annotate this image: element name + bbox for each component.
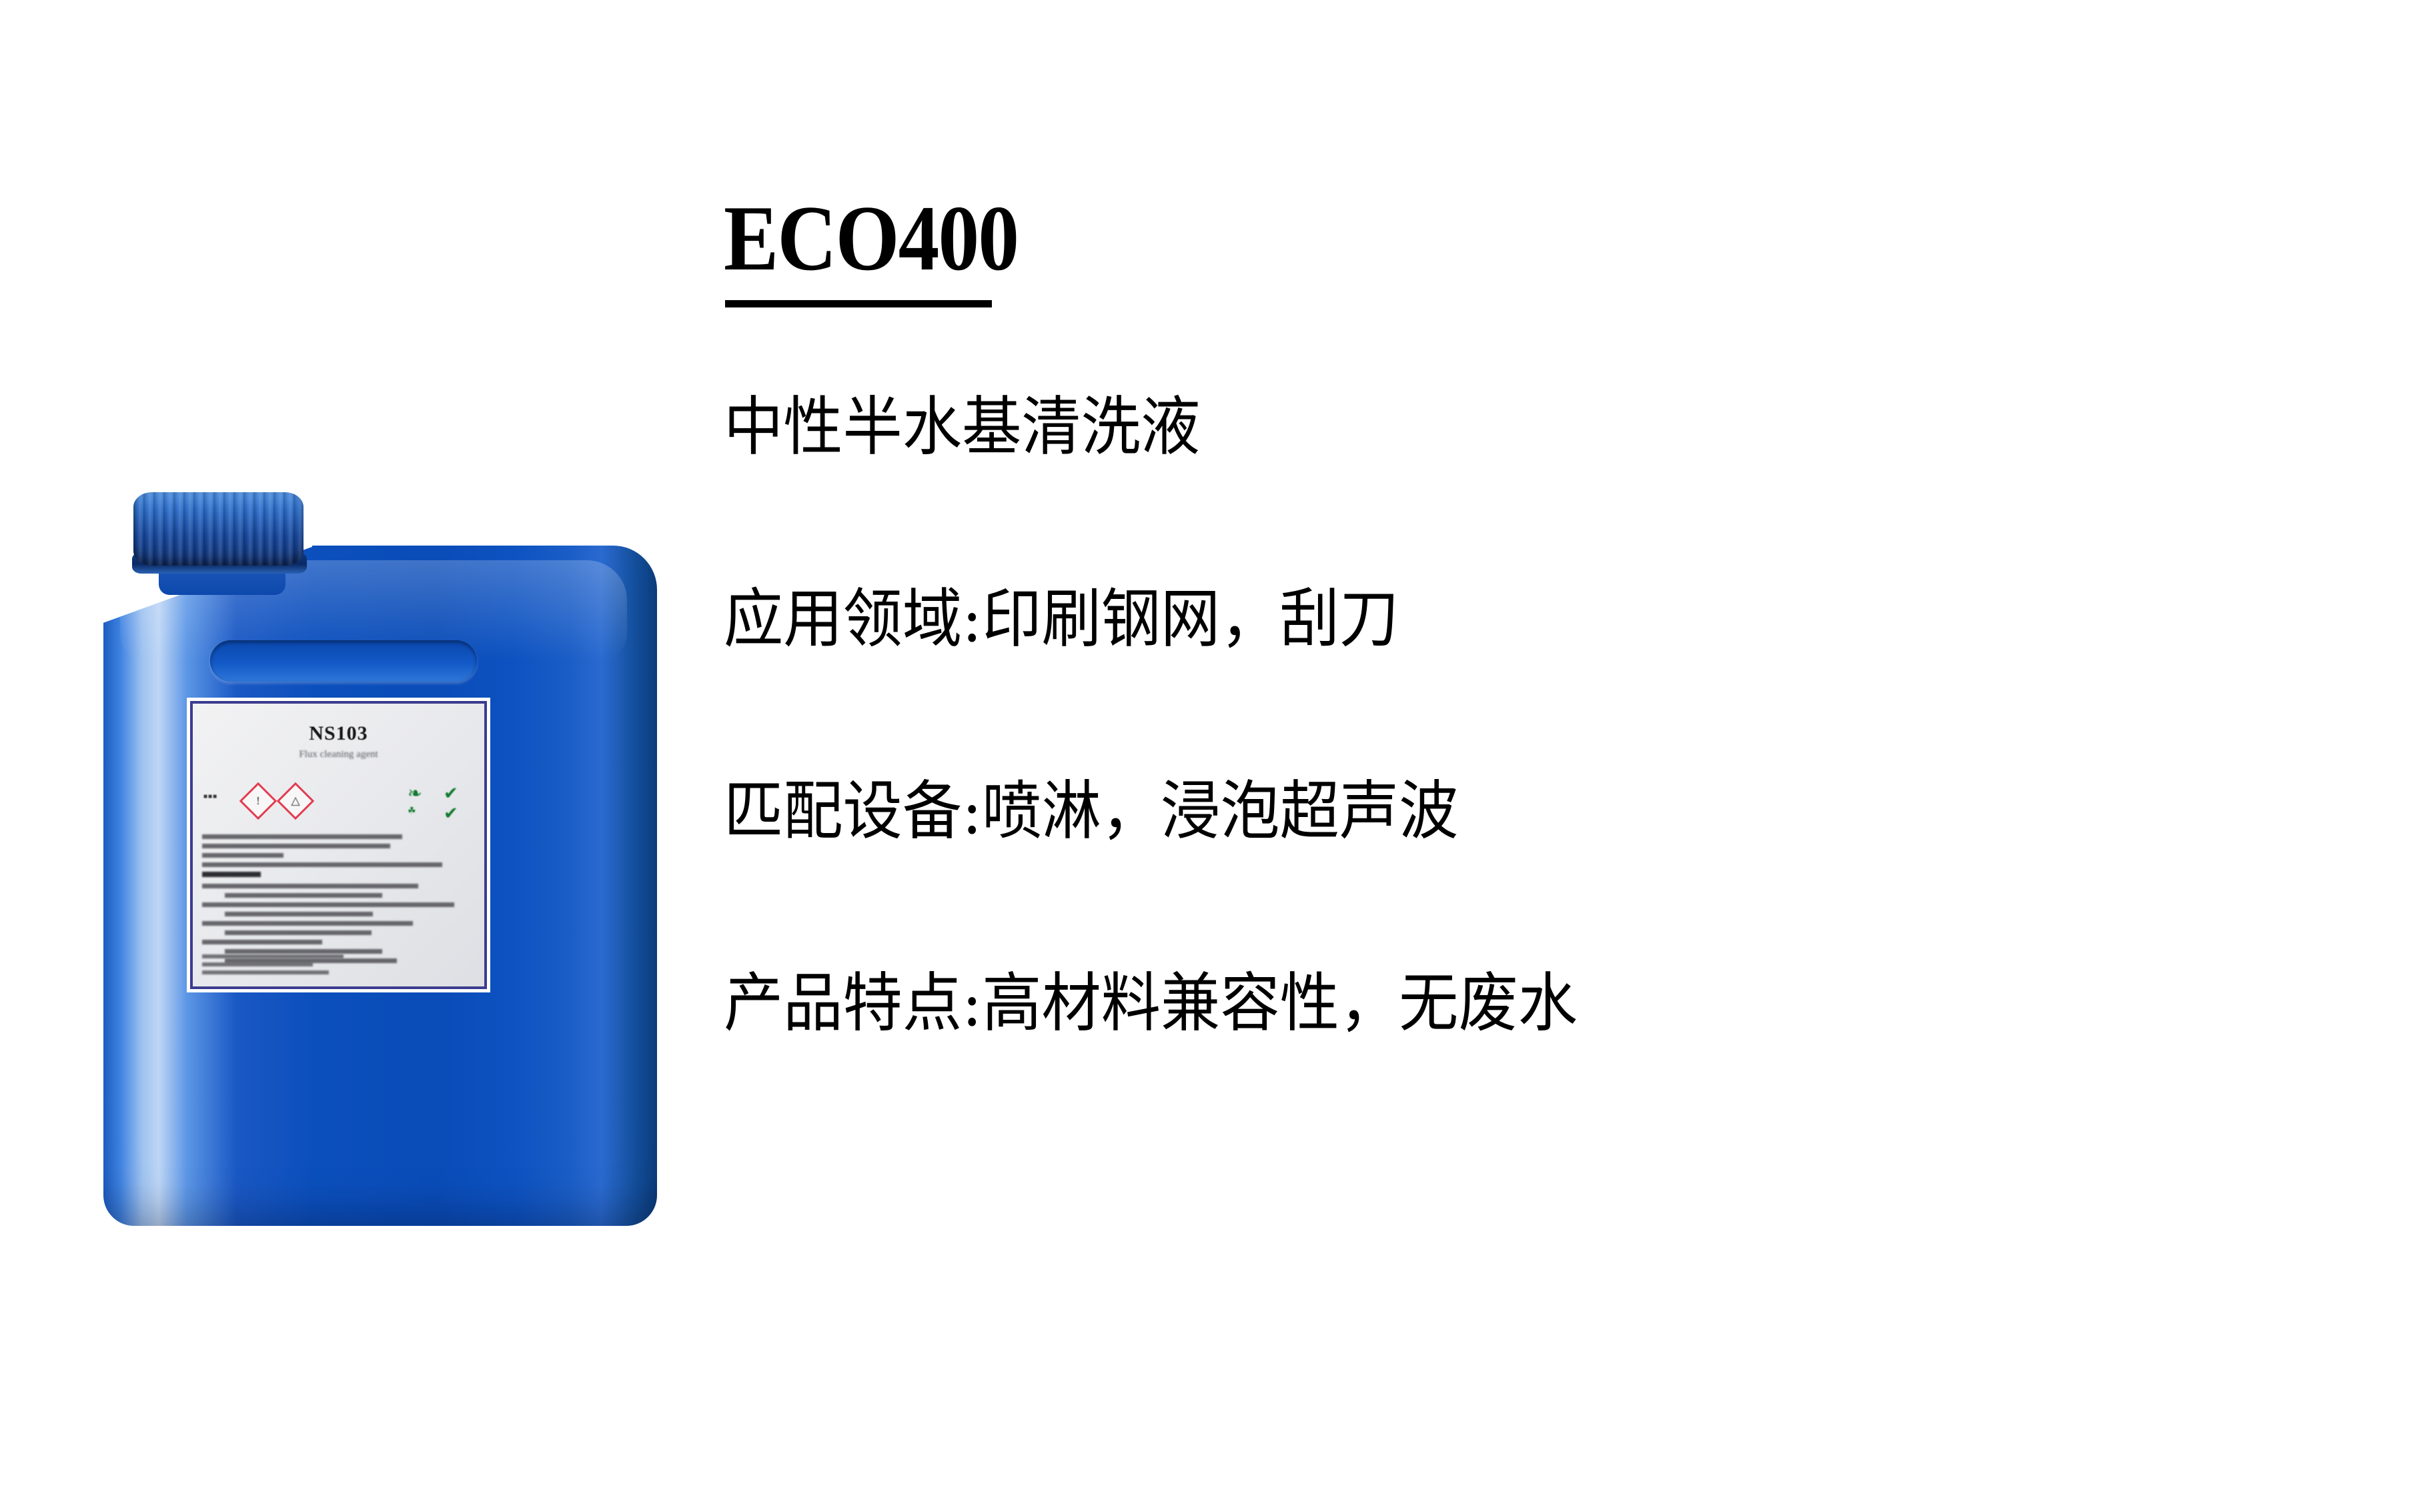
label-body-text-block	[202, 834, 469, 968]
spec-line-application: 应用领域:印刷钢网，刮刀	[724, 587, 1399, 651]
product-photo: NS103 Flux cleaning agent ■■■ ! △ ❧ ✔ ☘ …	[80, 460, 694, 1254]
label-text-line	[225, 893, 382, 898]
label-text-line	[225, 949, 382, 954]
spec-line-product-type: 中性半水基清洗液	[724, 395, 1200, 459]
product-label: NS103 Flux cleaning agent ■■■ ! △ ❧ ✔ ☘ …	[187, 698, 490, 992]
check-leaf-icon: ✔	[444, 784, 458, 804]
ghs-health-hazard-glyph: △	[291, 794, 299, 808]
label-text-line	[225, 930, 372, 935]
label-footer-line	[202, 962, 313, 966]
label-product-subtitle: Flux cleaning agent	[199, 749, 478, 760]
label-text-line	[202, 853, 283, 858]
jerrycan-screw-cap	[133, 492, 304, 566]
label-hazard-heading: ■■■	[203, 793, 217, 800]
ghs-exclamation-glyph: !	[256, 794, 260, 808]
title-underline-rule	[725, 300, 992, 307]
label-text-line	[202, 862, 442, 867]
label-text-line	[202, 940, 322, 944]
label-text-line	[202, 921, 413, 926]
product-info-panel: ECO400 中性半水基清洗液 应用领域:印刷钢网，刮刀 匹配设备:喷淋，浸泡超…	[724, 0, 2378, 1512]
spec-line-equipment: 匹配设备:喷淋，浸泡超声波	[724, 779, 1458, 843]
spec-line-features: 产品特点:高材料兼容性，无废水	[724, 971, 1578, 1035]
leaf-icon: ❧	[408, 784, 422, 804]
label-footer-line	[202, 970, 329, 974]
page-title: ECO400	[724, 192, 1018, 285]
label-text-line	[225, 912, 373, 916]
label-eco-icon-group: ❧ ✔ ☘ ✔	[406, 784, 481, 830]
label-text-line	[202, 884, 418, 888]
ghs-health-hazard-icon: △	[277, 782, 315, 820]
jerrycan-grip-indent	[210, 640, 477, 682]
label-text-line	[202, 844, 390, 848]
product-label-inner: NS103 Flux cleaning agent ■■■ ! △ ❧ ✔ ☘ …	[190, 701, 487, 989]
ghs-exclamation-mark-icon: !	[239, 782, 277, 820]
green-check-icon: ✔	[444, 804, 458, 824]
label-pictogram-row: ■■■ ! △ ❧ ✔ ☘ ✔	[203, 782, 484, 830]
eco-label-icon: ☘	[408, 806, 416, 817]
label-footer-block	[202, 954, 472, 978]
label-text-line	[202, 902, 454, 907]
label-section-heading	[202, 872, 261, 877]
label-product-code: NS103	[199, 722, 478, 745]
label-text-line	[202, 834, 402, 839]
label-footer-line	[202, 954, 344, 958]
